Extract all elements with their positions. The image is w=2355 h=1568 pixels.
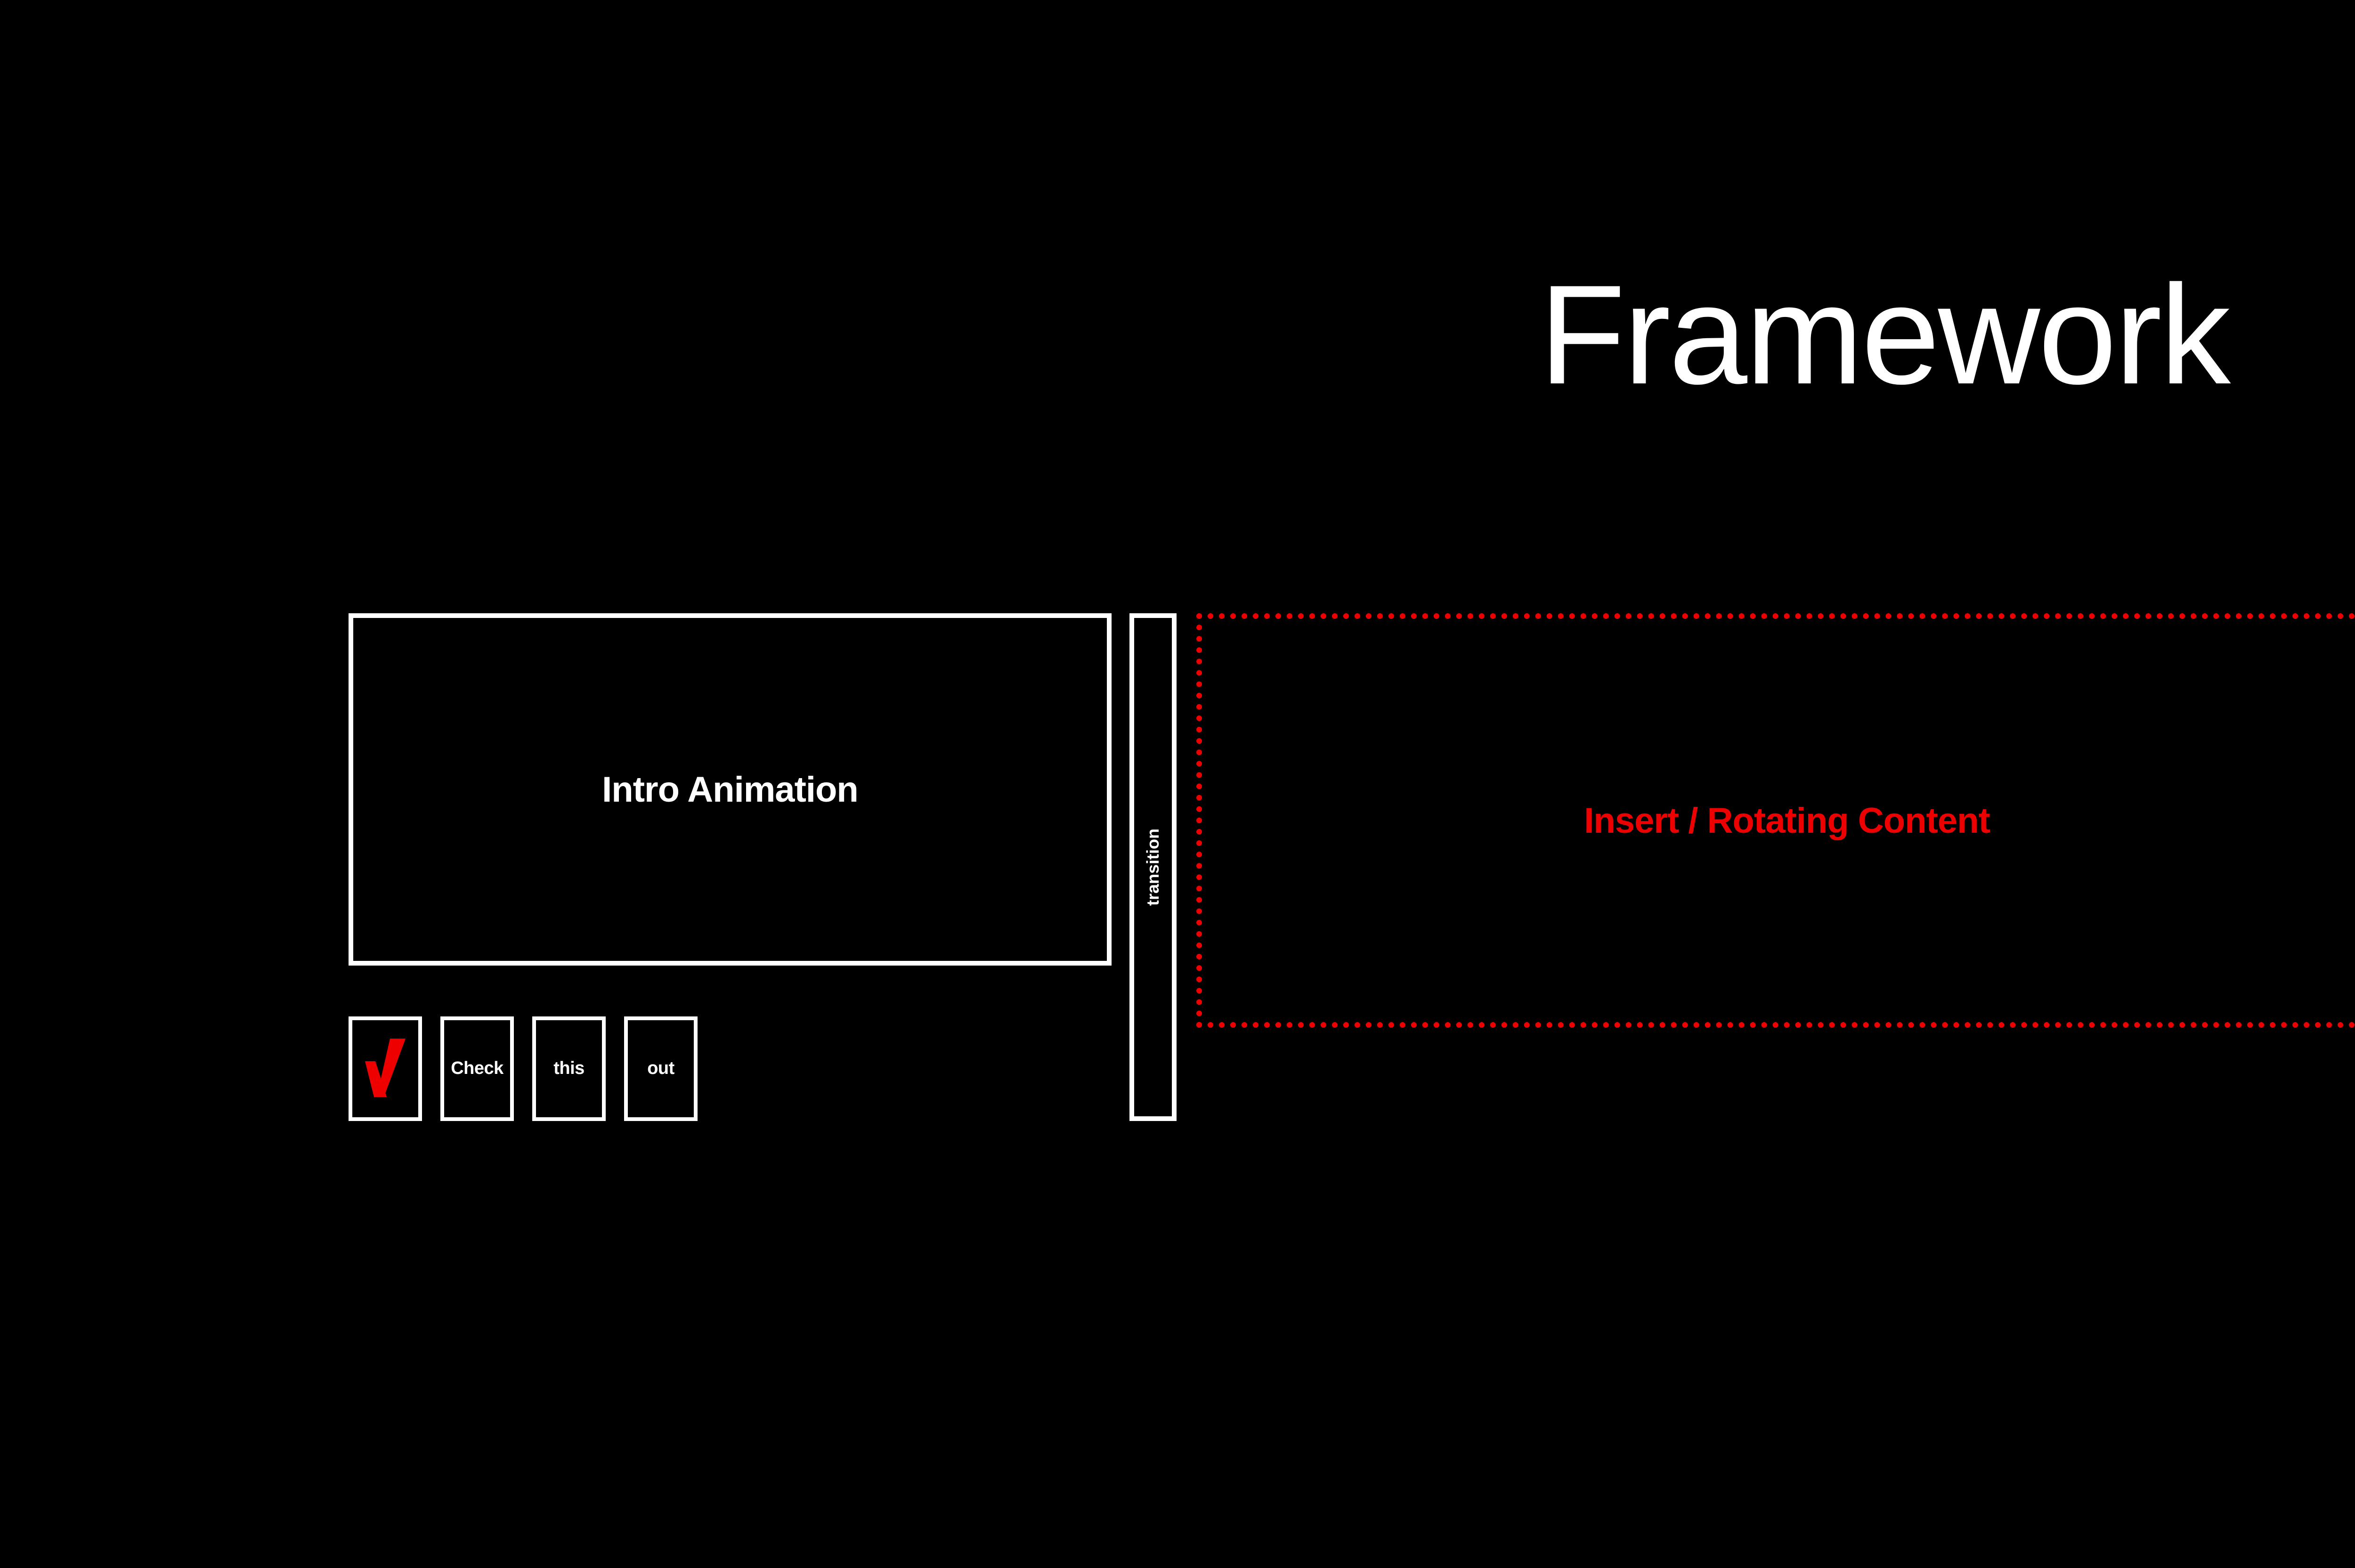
verizon-checkmark-icon bbox=[365, 1039, 406, 1099]
stage-intro-animation[interactable]: Intro Animation bbox=[349, 613, 1112, 966]
transition-bar-first[interactable]: transition bbox=[1129, 613, 1177, 1121]
framework-diagram: Intro Animation Check this out transitio… bbox=[349, 613, 2355, 1121]
transition-bar-first-label: transition bbox=[1143, 829, 1163, 906]
stage-insert-rotating-content-label: Insert / Rotating Content bbox=[1584, 800, 1990, 841]
page-title: Framework bbox=[0, 264, 2355, 405]
intro-thumb-check-label: Check bbox=[451, 1058, 503, 1079]
intro-thumb-check[interactable]: Check bbox=[440, 1016, 514, 1121]
stage-insert-rotating-content[interactable]: Insert / Rotating Content bbox=[1196, 613, 2355, 1028]
intro-thumb-out[interactable]: out bbox=[624, 1016, 698, 1121]
intro-thumb-this-label: this bbox=[553, 1058, 585, 1079]
intro-thumb-out-label: out bbox=[647, 1058, 674, 1079]
intro-thumb-this[interactable]: this bbox=[532, 1016, 606, 1121]
intro-thumb-checkmark[interactable] bbox=[349, 1016, 422, 1121]
stage-intro-animation-label: Intro Animation bbox=[602, 769, 858, 810]
